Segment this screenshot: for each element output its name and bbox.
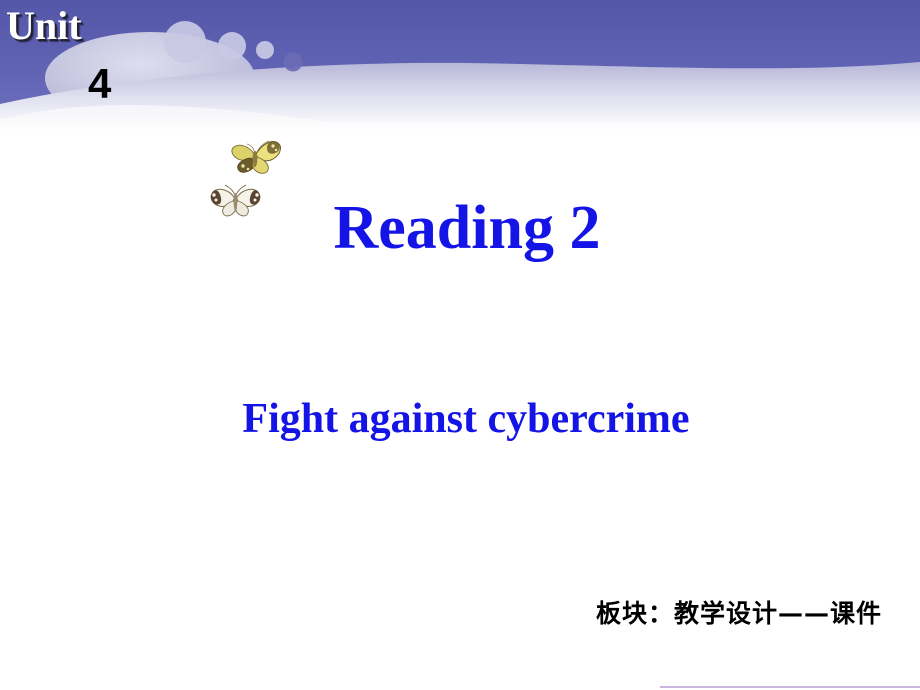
footer-note: 板块：教学设计——课件 <box>596 598 882 630</box>
unit-number-label: 4 <box>88 62 111 106</box>
unit-word-label: Unit <box>6 4 82 48</box>
bubble-large <box>164 21 206 63</box>
header-banner <box>0 0 920 132</box>
bubble-medium <box>218 32 246 60</box>
butterfly-yellow-icon <box>226 136 284 178</box>
presentation-slide: Unit 4 <box>0 0 920 690</box>
bubble-small <box>256 41 274 59</box>
bubble-dark <box>284 53 303 72</box>
page-subtitle: Fight against cybercrime <box>0 392 920 446</box>
page-title: Reading 2 <box>0 192 920 264</box>
bottom-accent-rule <box>660 686 920 688</box>
